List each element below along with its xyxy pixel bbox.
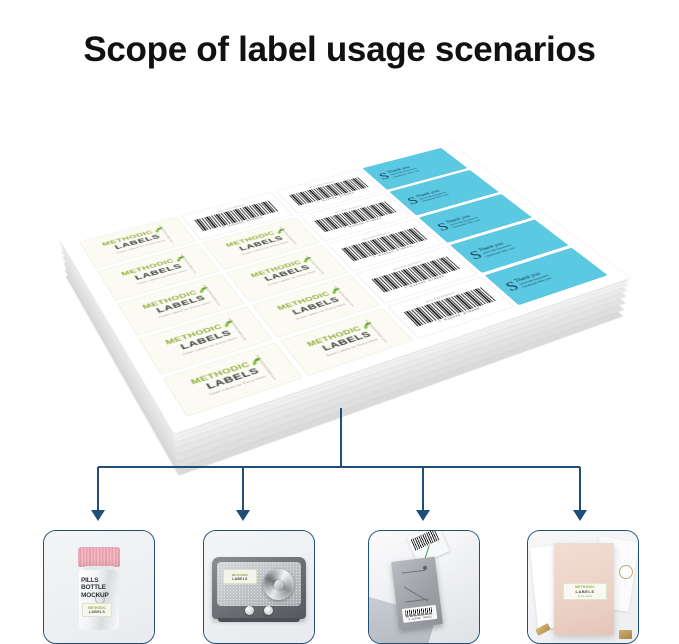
notebook-sticker-line-3: Smart Labels bbox=[578, 595, 592, 598]
brand-side-text: www.methodiclabels.com bbox=[364, 319, 389, 343]
brand-word-labels: LABELS bbox=[153, 321, 257, 359]
brand-word-labels: LABELS bbox=[109, 256, 206, 288]
scenario-card-retro-radio[interactable]: METHODIC LABELS bbox=[203, 530, 315, 644]
brand-word-labels: LABELS bbox=[267, 289, 364, 324]
brand-word-labels: LABELS bbox=[296, 323, 396, 361]
brand-word-methodic: METHODIC bbox=[141, 290, 198, 311]
brand-logo: METHODICLABELSSmart Labels for Every Nee… bbox=[291, 317, 400, 365]
bottle-brand-sticker: METHODIC LABELS bbox=[82, 603, 112, 617]
radio-tuning-dial bbox=[263, 569, 294, 600]
label-cell-brand: METHODICLABELSSmart Labels for Every Nee… bbox=[116, 274, 243, 336]
card-barcode-icon bbox=[411, 530, 440, 551]
leaf-icon bbox=[222, 320, 237, 329]
notebook-icon: METHODIC LABELS Smart Labels bbox=[554, 543, 614, 635]
radio-knob-left bbox=[245, 606, 254, 615]
label-cell-brand: METHODICLABELSSmart Labels for Every Nee… bbox=[251, 275, 379, 337]
scenario-card-garment-hang-tag[interactable]: 0 123456 789012 bbox=[368, 530, 480, 644]
barcode-lines bbox=[371, 256, 461, 292]
brand-tagline: Smart Labels for Every Need bbox=[184, 367, 289, 404]
monogram-s: S bbox=[502, 281, 520, 292]
barcode-top-text: SKU REFERENCE bbox=[392, 260, 422, 271]
brand-tagline: Smart Labels for Every Need bbox=[246, 265, 336, 293]
brand-word-labels: LABELS bbox=[240, 258, 333, 290]
arrow-tree bbox=[0, 400, 679, 530]
brand-side-text: www.methodiclabels.com bbox=[254, 354, 277, 380]
brand-side-text: www.methodiclabels.com bbox=[333, 285, 356, 307]
arrowhead-4 bbox=[573, 510, 587, 521]
label-cell-brand: METHODICLABELSSmart Labels for Every Nee… bbox=[138, 307, 271, 375]
brand-logo: METHODICLABELSSmart Labels for Every Nee… bbox=[149, 315, 260, 363]
brand-logo: METHODICLABELSSmart Labels for Every Nee… bbox=[262, 283, 366, 327]
leaf-icon bbox=[360, 321, 375, 330]
arrowhead-2 bbox=[236, 510, 250, 521]
radio-base bbox=[218, 618, 300, 622]
bottle-cap bbox=[78, 547, 120, 567]
barcode-number: 7 612345 678906 bbox=[438, 308, 481, 324]
page-title: Scope of label usage scenarios bbox=[0, 30, 679, 70]
label-sheet-stack: METHODICLABELSSmart Labels for Every Nee… bbox=[59, 140, 629, 433]
scenario-card-notebook[interactable]: METHODIC LABELS Smart Labels bbox=[527, 530, 639, 644]
hang-tag-scene: 0 123456 789012 bbox=[369, 531, 479, 643]
label-cell-brand: METHODICLABELSSmart Labels for Every Nee… bbox=[78, 216, 195, 268]
brand-word-methodic: METHODIC bbox=[249, 260, 303, 279]
barcode-top-text: SKU REFERENCE bbox=[425, 292, 457, 304]
brand-side-text: www.methodiclabels.com bbox=[226, 318, 247, 342]
brand-word-methodic: METHODIC bbox=[276, 291, 332, 312]
radio-speaker-grille: METHODIC LABELS bbox=[217, 562, 301, 606]
hang-tag-barcode-sticker: 0 123456 789012 bbox=[402, 605, 437, 623]
brand-logo: METHODICLABELSSmart Labels for Every Nee… bbox=[236, 253, 336, 293]
bottle-mockup-text: PILLS BOTTLE MOCKUP bbox=[81, 577, 111, 599]
cyan-line-2: Handmade With Love bbox=[521, 264, 594, 289]
brand-word-labels: LABELS bbox=[178, 358, 286, 400]
notebook-scene: METHODIC LABELS Smart Labels bbox=[528, 531, 638, 643]
leaf-icon bbox=[197, 286, 211, 294]
leaf-icon bbox=[249, 357, 265, 366]
brand-side-text: www.methodiclabels.com bbox=[201, 284, 220, 306]
cyan-line-1: 100% Silk Assortment bbox=[518, 261, 591, 286]
cyan-script-text: Thank you bbox=[513, 257, 587, 283]
label-stack-illustration: METHODICLABELSSmart Labels for Every Nee… bbox=[0, 95, 679, 435]
barcode-lines bbox=[403, 287, 496, 327]
bottle-text-line-1: PILLS bbox=[81, 577, 111, 584]
arrowhead-1 bbox=[91, 510, 105, 521]
barcode-number: 7 612345 678905 bbox=[404, 275, 446, 290]
hang-tag-icon: 0 123456 789012 bbox=[391, 557, 443, 630]
retro-radio-icon: METHODIC LABELS bbox=[212, 557, 306, 619]
bottle-text-line-3: MOCKUP bbox=[81, 592, 111, 599]
brand-word-methodic: METHODIC bbox=[120, 258, 175, 277]
notebook-sticker-line-2: LABELS bbox=[576, 589, 595, 594]
scenario-boxes: PILLS BOTTLE MOCKUP METHODIC LABELS METH… bbox=[0, 530, 679, 644]
bottle-text-line-2: BOTTLE bbox=[81, 584, 111, 591]
brand-tagline: Smart Labels for Every Need bbox=[114, 263, 208, 291]
brand-logo: METHODICLABELSSmart Labels for Every Nee… bbox=[173, 352, 289, 405]
pills-bottle-scene: PILLS BOTTLE MOCKUP METHODIC LABELS bbox=[44, 531, 154, 643]
arrowhead-3 bbox=[416, 510, 430, 521]
brand-tagline: Smart Labels for Every Need bbox=[135, 295, 233, 326]
radio-knob-right bbox=[264, 606, 273, 615]
brand-logo: METHODICLABELSSmart Labels for Every Nee… bbox=[126, 282, 232, 326]
retro-radio-scene: METHODIC LABELS bbox=[204, 531, 314, 643]
brand-word-labels: LABELS bbox=[130, 287, 230, 322]
radio-sticker-line-2: LABELS bbox=[232, 577, 247, 581]
brand-word-methodic: METHODIC bbox=[164, 324, 224, 347]
bottle-sticker-line-2: LABELS bbox=[89, 610, 105, 614]
brass-ring-icon bbox=[619, 565, 633, 579]
radio-brand-sticker: METHODIC LABELS bbox=[223, 569, 257, 584]
brass-clip-right bbox=[619, 630, 632, 639]
leaf-icon bbox=[329, 287, 344, 295]
hang-tag-zigzag-mark bbox=[401, 570, 430, 603]
pill-bottle-icon: PILLS BOTTLE MOCKUP METHODIC LABELS bbox=[75, 547, 123, 631]
brand-tagline: Smart Labels for Every Need bbox=[273, 296, 366, 327]
brand-word-methodic: METHODIC bbox=[305, 325, 363, 348]
brand-word-methodic: METHODIC bbox=[189, 361, 251, 386]
scenario-card-pills-bottle[interactable]: PILLS BOTTLE MOCKUP METHODIC LABELS bbox=[43, 530, 155, 644]
brand-tagline: Smart Labels for Every Need bbox=[303, 331, 400, 365]
notebook-brand-sticker: METHODIC LABELS Smart Labels bbox=[563, 583, 607, 600]
brand-tagline: Smart Labels for Every Need bbox=[158, 329, 259, 363]
